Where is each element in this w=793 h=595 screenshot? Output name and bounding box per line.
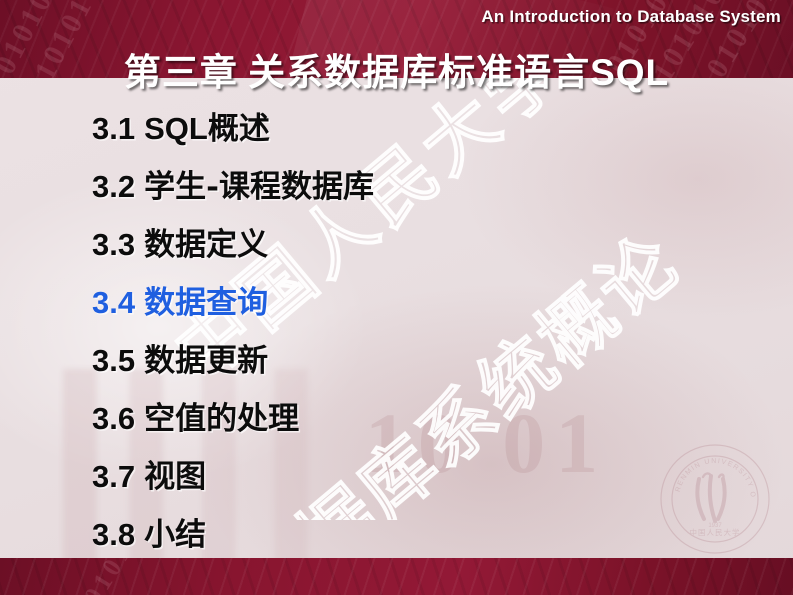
slide-title: 第三章 关系数据库标准语言SQL [0,42,793,96]
agenda-item-3-6[interactable]: 3.6空值的处理 [92,390,652,448]
agenda-item-3-5[interactable]: 3.5数据更新 [92,332,652,390]
agenda-label-cn: 概述 [208,111,270,147]
agenda-number: 3.3 [92,227,135,262]
agenda-label-latin: SQL [144,111,208,146]
agenda-number: 3.5 [92,343,135,378]
agenda-number: 3.2 [92,169,135,204]
agenda-label: SQL概述 [144,111,270,147]
agenda-item-3-1[interactable]: 3.1SQL概述 [92,100,652,158]
agenda-item-3-4[interactable]: 3.4数据查询 [92,274,652,332]
agenda-label: 数据定义 [144,227,268,263]
agenda-item-3-3[interactable]: 3.3数据定义 [92,216,652,274]
agenda-label: 数据更新 [144,343,268,379]
agenda-label: 小结 [144,517,206,553]
agenda-label: 数据查询 [144,285,268,321]
agenda-item-3-2[interactable]: 3.2学生-课程数据库 [92,158,652,216]
agenda-number: 3.8 [92,517,135,552]
agenda-item-3-7[interactable]: 3.7视图 [92,448,652,506]
agenda-label: 视图 [144,459,206,495]
agenda-list: 3.1SQL概述 3.2学生-课程数据库 3.3数据定义 3.4数据查询 3.5… [92,100,652,564]
agenda-number: 3.4 [92,285,135,320]
slide-title-en: SQL [590,52,669,93]
footer-title: An Introduction to Database System [481,7,781,27]
agenda-number: 3.1 [92,111,135,146]
agenda-number: 3.6 [92,401,135,436]
agenda-item-3-8[interactable]: 3.8小结 [92,506,652,564]
footer-bar: 01010 [0,558,793,595]
agenda-number: 3.7 [92,459,135,494]
agenda-label: 空值的处理 [144,401,299,437]
slide-title-cn: 第三章 关系数据库标准语言 [124,53,590,94]
agenda-label: 学生-课程数据库 [144,169,374,205]
slide: 10 01 中国人民大学 数据库系统概论 RENMIN UNIVERSITY O [0,0,793,595]
